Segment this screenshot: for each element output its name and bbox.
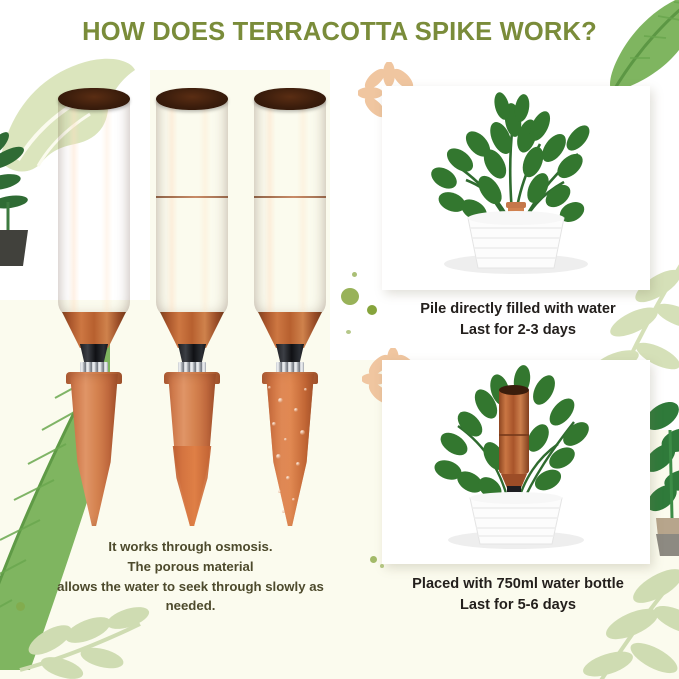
paint-splatter — [346, 330, 351, 334]
product-stage-wetting[interactable] — [150, 86, 234, 526]
bottle-shoulder — [258, 312, 322, 348]
caption-line: Pile directly filled with water — [368, 299, 668, 320]
bottle-opening — [254, 88, 326, 110]
caption-line: Last for 2-3 days — [368, 320, 668, 341]
product-stage-dry[interactable] — [52, 86, 136, 526]
paint-splatter — [352, 272, 357, 277]
paint-splatter — [370, 556, 377, 563]
water-droplet-icon — [268, 386, 271, 389]
water-droplet-icon — [286, 476, 290, 480]
page-title-text: HOW DOES TERRACOTTA SPIKE WORK? — [82, 18, 597, 46]
water-droplet-icon — [282, 510, 285, 513]
bottle-water-line — [156, 196, 228, 198]
water-droplet-icon — [284, 438, 287, 441]
example-photo-pile[interactable] — [382, 86, 650, 290]
page-title: HOW DOES TERRACOTTA SPIKE WORK? — [0, 18, 679, 47]
osmosis-line: needed. — [18, 596, 363, 616]
bottle-shoulder — [160, 312, 224, 348]
terracotta-wet-zone — [166, 446, 218, 526]
bottle-opening-inner — [170, 94, 226, 106]
product-stage-soaked[interactable] — [248, 86, 332, 526]
caption-bottle: Placed with 750ml water bottle Last for … — [368, 574, 668, 616]
water-droplet-icon — [300, 430, 305, 435]
water-droplet-icon — [294, 408, 298, 412]
water-droplet-icon — [292, 498, 295, 501]
caption-line: Last for 5-6 days — [368, 595, 668, 616]
water-droplet-icon — [304, 388, 307, 391]
osmosis-line: It works through osmosis. — [18, 537, 363, 557]
infographic-canvas: HOW DOES TERRACOTTA SPIKE WORK? — [0, 0, 679, 679]
water-droplet-icon — [278, 398, 283, 403]
bottle-body — [254, 96, 326, 318]
terracotta-cone — [68, 374, 120, 526]
example-photo-bottle[interactable] — [382, 360, 650, 564]
bottle-opening — [156, 88, 228, 110]
water-droplet-icon — [296, 462, 300, 466]
bottle-opening — [58, 88, 130, 110]
paint-splatter — [341, 288, 359, 305]
bottle-shoulder — [62, 312, 126, 348]
osmosis-line: The porous material — [18, 557, 363, 577]
terracotta-wet-zone — [264, 374, 316, 526]
osmosis-line: allows the water to seek through slowly … — [18, 577, 363, 597]
bottle-body — [58, 96, 130, 318]
caption-pile: Pile directly filled with water Last for… — [368, 299, 668, 341]
caption-line: Placed with 750ml water bottle — [368, 574, 668, 595]
water-droplet-icon — [276, 454, 281, 459]
bottle-body — [156, 96, 228, 318]
product-stages-group — [38, 86, 338, 526]
bottle-opening-inner — [72, 94, 128, 106]
paint-splatter — [380, 564, 384, 568]
bottle-water-line — [254, 196, 326, 198]
water-droplet-icon — [272, 422, 276, 426]
bottle-opening-inner — [268, 94, 324, 106]
water-droplet-icon — [278, 490, 281, 493]
osmosis-description: It works through osmosis. The porous mat… — [18, 537, 363, 616]
